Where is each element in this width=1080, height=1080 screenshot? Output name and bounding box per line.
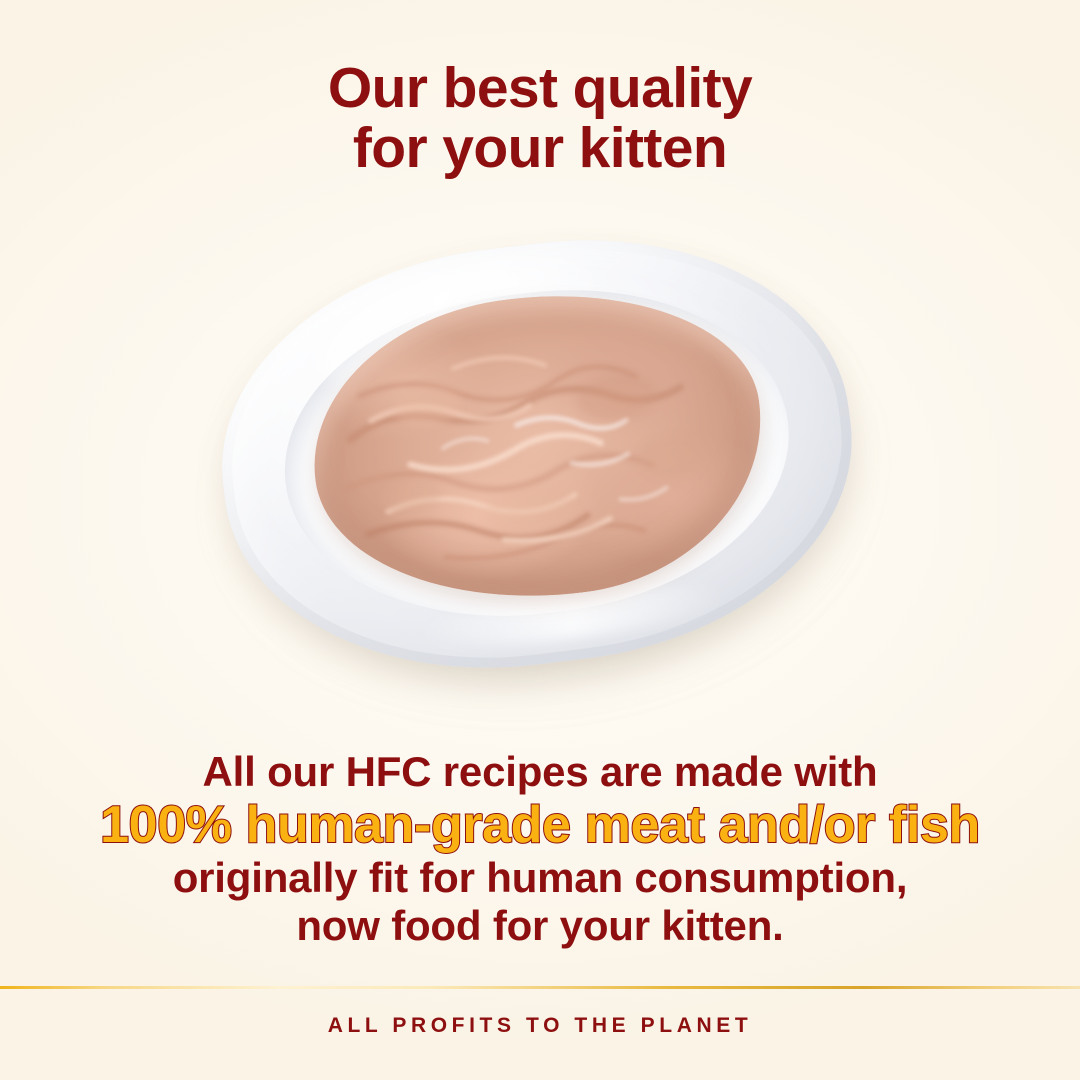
body-line-1: All our HFC recipes are made with — [0, 748, 1080, 796]
body-highlight: 100% human-grade meat and/or fish — [0, 796, 1080, 854]
page-title: Our best quality for your kitten — [0, 58, 1080, 178]
headline-line-1: Our best quality — [0, 58, 1080, 118]
body-line-4: now food for your kitten. — [0, 902, 1080, 950]
body-copy: All our HFC recipes are made with 100% h… — [0, 748, 1080, 950]
footer-tagline: ALL PROFITS TO THE PLANET — [0, 1014, 1080, 1038]
plate-assembly — [199, 208, 875, 702]
plate-icon — [199, 208, 875, 700]
gold-divider — [0, 986, 1080, 989]
promo-poster: Our best quality for your kitten — [0, 0, 1080, 1080]
body-line-3: originally fit for human consumption, — [0, 854, 1080, 902]
product-image — [0, 225, 1080, 705]
headline-line-2: for your kitten — [0, 118, 1080, 178]
